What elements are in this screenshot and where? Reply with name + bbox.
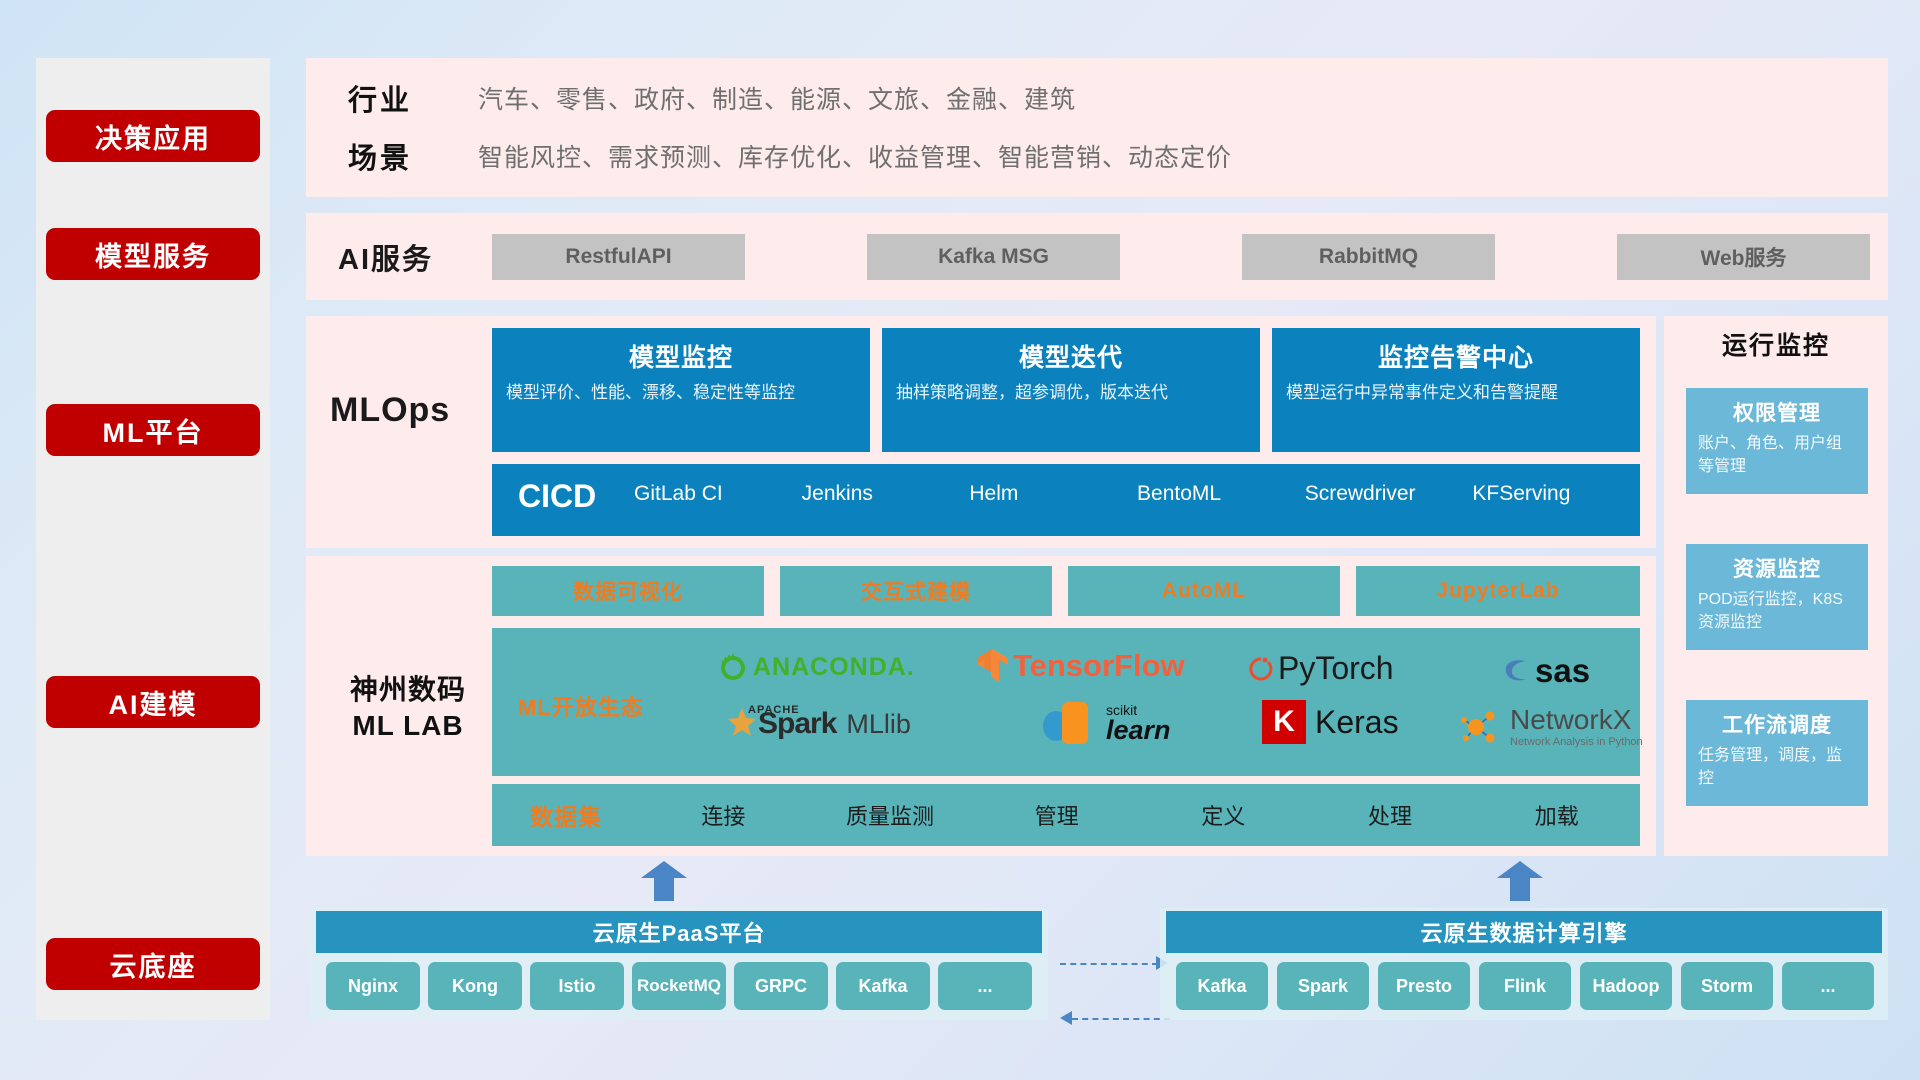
ai-service-box-rabbitmq[interactable]: RabbitMQ — [1242, 234, 1495, 280]
anaconda-icon — [718, 652, 748, 682]
cicd-tool-kfserving[interactable]: KFServing — [1472, 464, 1640, 507]
monitor-card-resource[interactable]: 资源监控 POD运行监控，K8S资源监控 — [1686, 544, 1868, 650]
mlops-card-alert-center-desc: 模型运行中异常事件定义和告警提醒 — [1286, 381, 1626, 405]
sas-icon — [1500, 655, 1534, 687]
cicd-tool-bentoml[interactable]: BentoML — [1137, 464, 1305, 507]
cicd-label: CICD — [492, 464, 634, 515]
ml-lab-tab-interactive-modeling-label: 交互式建模 — [861, 576, 971, 606]
layer-badge-decision-label: 决策应用 — [95, 117, 211, 156]
paas-chip-kong[interactable]: Kong — [428, 962, 522, 1010]
monitor-card-resource-desc: POD运行监控，K8S资源监控 — [1698, 589, 1856, 634]
layer-badge-cloud-base-label: 云底座 — [110, 945, 197, 984]
tensorflow-logo: TensorFlow — [975, 648, 1185, 684]
engine-chip-hadoop[interactable]: Hadoop — [1580, 962, 1672, 1010]
monitor-card-permission[interactable]: 权限管理 账户、角色、用户组等管理 — [1686, 388, 1868, 494]
paas-chip-kafka-label: Kafka — [858, 976, 907, 996]
pytorch-logo-text: PyTorch — [1278, 650, 1394, 687]
dataset-item-loading[interactable]: 加载 — [1473, 799, 1640, 831]
mlops-card-model-monitoring-desc: 模型评价、性能、漂移、稳定性等监控 — [506, 381, 856, 405]
ml-lab-tab-jupyterlab-label: JupyterLab — [1436, 579, 1559, 603]
anaconda-logo: ANACONDA. — [718, 652, 915, 682]
keras-icon: K — [1262, 700, 1306, 744]
mlops-card-alert-center-title: 监控告警中心 — [1286, 338, 1626, 374]
ai-service-box-web-label: Web服务 — [1701, 242, 1787, 272]
monitor-card-permission-desc: 账户、角色、用户组等管理 — [1698, 433, 1856, 478]
layer-badge-cloud-base[interactable]: 云底座 — [46, 938, 260, 990]
engine-chip-flink[interactable]: Flink — [1479, 962, 1571, 1010]
engine-chip-kafka-label: Kafka — [1197, 976, 1246, 996]
dataset-item-connect[interactable]: 连接 — [640, 799, 807, 831]
monitor-card-workflow[interactable]: 工作流调度 任务管理，调度，监控 — [1686, 700, 1868, 806]
cicd-tool-gitlab-ci[interactable]: GitLab CI — [634, 464, 802, 507]
paas-chip-nginx[interactable]: Nginx — [326, 962, 420, 1010]
pytorch-logo: PyTorch — [1248, 650, 1394, 687]
monitor-card-workflow-title: 工作流调度 — [1698, 709, 1856, 739]
layer-badge-ml-platform[interactable]: ML平台 — [46, 404, 260, 456]
networkx-logo: NetworkX Network Analysis in Python — [1460, 706, 1643, 748]
dash-arrow-left — [1072, 1018, 1170, 1020]
mlops-card-model-iteration-title: 模型迭代 — [896, 338, 1246, 374]
ai-service-box-kafka-msg[interactable]: Kafka MSG — [867, 234, 1120, 280]
engine-chip-presto-label: Presto — [1396, 976, 1452, 996]
engine-chip-spark[interactable]: Spark — [1277, 962, 1369, 1010]
business-row-scenario: 场景 智能风控、需求预测、库存优化、收益管理、智能营销、动态定价 — [348, 130, 1868, 182]
mllib-logo-text: MLlib — [846, 709, 911, 740]
tensorflow-logo-text: TensorFlow — [1013, 648, 1185, 684]
business-industry-value: 汽车、零售、政府、制造、能源、文旅、金融、建筑 — [478, 80, 1076, 116]
cicd-tool-jenkins[interactable]: Jenkins — [802, 464, 970, 507]
layer-badge-decision[interactable]: 决策应用 — [46, 110, 260, 162]
business-industry-key: 行业 — [348, 77, 478, 119]
paas-chip-kong-label: Kong — [452, 976, 498, 996]
ml-lab-label-line1: 神州数码 — [322, 672, 494, 708]
paas-chip-rocketmq-label: RocketMQ — [637, 976, 721, 995]
scikit-learn-icon — [1040, 700, 1088, 746]
business-row-industry: 行业 汽车、零售、政府、制造、能源、文旅、金融、建筑 — [348, 72, 1868, 124]
spark-mllib-logo: APACHE Spark MLlib — [720, 706, 911, 742]
paas-chip-more-label: ... — [977, 976, 992, 996]
layer-rail — [36, 58, 270, 1020]
ai-service-box-web[interactable]: Web服务 — [1617, 234, 1870, 280]
engine-chip-hadoop-label: Hadoop — [1593, 976, 1660, 996]
networkx-logo-tagline: Network Analysis in Python — [1510, 736, 1643, 748]
cicd-row: CICD GitLab CI Jenkins Helm BentoML Scre… — [492, 464, 1640, 536]
pytorch-icon — [1248, 653, 1274, 685]
ml-lab-tab-jupyterlab[interactable]: JupyterLab — [1356, 566, 1640, 616]
monitor-title: 运行监控 — [1664, 326, 1888, 362]
paas-chip-istio-label: Istio — [558, 976, 595, 996]
mlops-label: MLOps — [330, 380, 490, 440]
tensorflow-icon — [975, 648, 1009, 684]
architecture-diagram: 决策应用 模型服务 ML平台 AI建模 云底座 行业 汽车、零售、政府、制造、能… — [0, 0, 1920, 1080]
monitor-card-permission-title: 权限管理 — [1698, 397, 1856, 427]
engine-chip-flink-label: Flink — [1504, 976, 1546, 996]
paas-platform-title: 云原生PaaS平台 — [316, 911, 1042, 953]
engine-chip-kafka[interactable]: Kafka — [1176, 962, 1268, 1010]
layer-badge-ai-modeling-label: AI建模 — [109, 683, 198, 722]
dataset-item-quality-monitoring[interactable]: 质量监测 — [807, 799, 974, 831]
dash-arrow-left-head-icon — [1060, 1011, 1072, 1025]
ml-lab-label-line2: ML LAB — [322, 708, 494, 744]
sas-logo-text: sas — [1535, 652, 1590, 690]
paas-chip-grpc-label: GRPC — [755, 976, 807, 996]
dash-arrow-right — [1060, 963, 1158, 965]
keras-logo-text: Keras — [1315, 704, 1399, 741]
mlops-card-alert-center[interactable]: 监控告警中心 模型运行中异常事件定义和告警提醒 — [1272, 328, 1640, 452]
engine-chip-presto[interactable]: Presto — [1378, 962, 1470, 1010]
ml-lab-tab-automl[interactable]: AutoML — [1068, 566, 1340, 616]
anaconda-logo-text: ANACONDA. — [753, 653, 915, 682]
cicd-tool-screwdriver[interactable]: Screwdriver — [1305, 464, 1473, 507]
mlops-card-model-monitoring[interactable]: 模型监控 模型评价、性能、漂移、稳定性等监控 — [492, 328, 870, 452]
sas-logo: sas — [1500, 652, 1590, 690]
ml-eco-label: ML开放生态 — [518, 690, 644, 722]
paas-chip-rocketmq[interactable]: RocketMQ — [632, 962, 726, 1010]
monitor-card-workflow-desc: 任务管理，调度，监控 — [1698, 745, 1856, 790]
scikit-learn-logo: scikit learn — [1040, 700, 1088, 746]
ai-service-box-rabbitmq-label: RabbitMQ — [1319, 245, 1418, 269]
mlops-card-model-monitoring-title: 模型监控 — [506, 338, 856, 374]
ml-lab-tab-automl-label: AutoML — [1162, 579, 1246, 603]
paas-chip-more[interactable]: ... — [938, 962, 1032, 1010]
paas-chip-istio[interactable]: Istio — [530, 962, 624, 1010]
networkx-logo-text: NetworkX — [1510, 706, 1643, 734]
dataset-item-management[interactable]: 管理 — [973, 799, 1140, 831]
mlops-card-model-iteration[interactable]: 模型迭代 抽样策略调整，超参调优，版本迭代 — [882, 328, 1260, 452]
dataset-item-processing[interactable]: 处理 — [1307, 799, 1474, 831]
keras-logo: K Keras — [1262, 700, 1399, 744]
dataset-row: 数据集 连接 质量监测 管理 定义 处理 加载 — [492, 784, 1640, 846]
engine-chip-storm-label: Storm — [1701, 976, 1753, 996]
ai-service-box-restfulapi[interactable]: RestfulAPI — [492, 234, 745, 280]
ml-lab-tab-data-visualization[interactable]: 数据可视化 — [492, 566, 764, 616]
layer-badge-ai-modeling[interactable]: AI建模 — [46, 676, 260, 728]
engine-chip-more[interactable]: ... — [1782, 962, 1874, 1010]
ml-lab-tab-interactive-modeling[interactable]: 交互式建模 — [780, 566, 1052, 616]
ml-lab-tab-data-visualization-label: 数据可视化 — [573, 576, 683, 606]
dataset-label: 数据集 — [492, 798, 640, 832]
cicd-tool-helm[interactable]: Helm — [969, 464, 1137, 507]
spark-apache-text: APACHE — [748, 704, 800, 716]
learn-text: learn — [1106, 715, 1171, 746]
dataset-item-definition[interactable]: 定义 — [1140, 799, 1307, 831]
networkx-icon — [1460, 707, 1506, 747]
engine-chip-storm[interactable]: Storm — [1681, 962, 1773, 1010]
paas-chip-kafka[interactable]: Kafka — [836, 962, 930, 1010]
ml-lab-label: 神州数码 ML LAB — [322, 672, 494, 745]
business-scenario-value: 智能风控、需求预测、库存优化、收益管理、智能营销、动态定价 — [478, 138, 1232, 174]
ai-service-box-restfulapi-label: RestfulAPI — [565, 245, 671, 269]
data-engine-title: 云原生数据计算引擎 — [1166, 911, 1882, 953]
monitor-card-resource-title: 资源监控 — [1698, 553, 1856, 583]
engine-chip-spark-label: Spark — [1298, 976, 1348, 996]
ai-service-box-kafka-msg-label: Kafka MSG — [938, 245, 1049, 269]
layer-badge-model-service-label: 模型服务 — [95, 235, 211, 274]
layer-badge-model-service[interactable]: 模型服务 — [46, 228, 260, 280]
layer-badge-ml-platform-label: ML平台 — [103, 411, 204, 450]
business-scenario-key: 场景 — [348, 135, 478, 177]
paas-chip-nginx-label: Nginx — [348, 976, 398, 996]
engine-chip-more-label: ... — [1820, 976, 1835, 996]
mlops-card-model-iteration-desc: 抽样策略调整，超参调优，版本迭代 — [896, 381, 1246, 405]
paas-chip-grpc[interactable]: GRPC — [734, 962, 828, 1010]
ai-service-label: AI服务 — [338, 213, 488, 300]
